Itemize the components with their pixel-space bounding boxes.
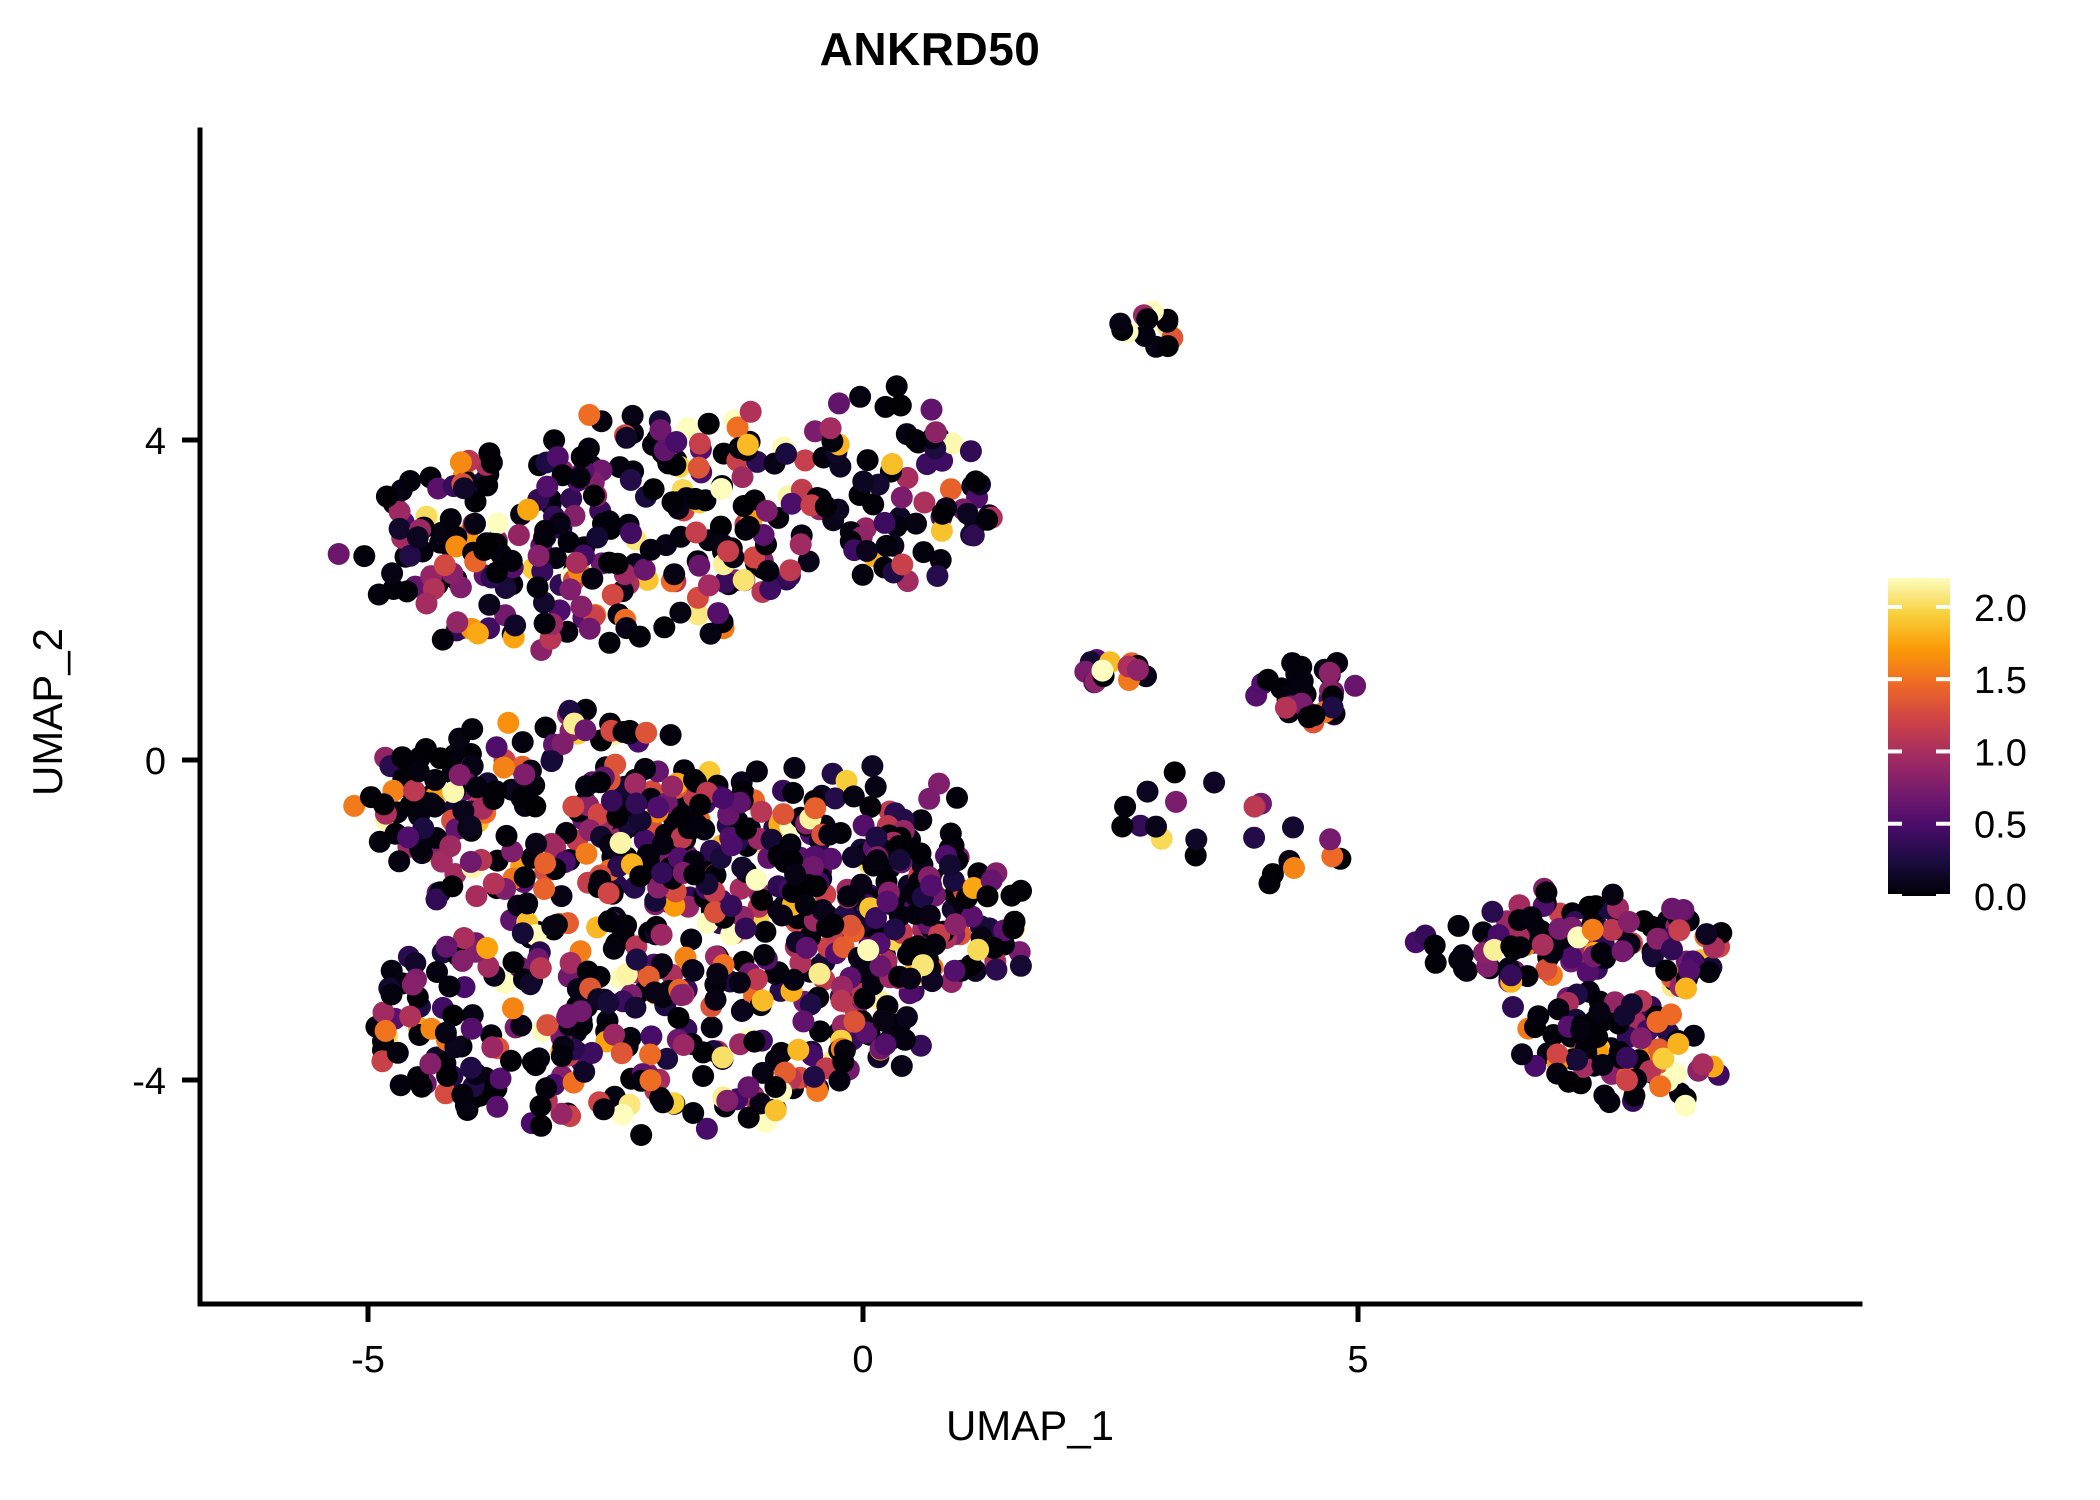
scatter-point (615, 427, 637, 449)
scatter-point (688, 555, 710, 577)
scatter-point (396, 580, 418, 602)
scatter-point (487, 512, 509, 534)
x-axis-ticks: -505 (351, 1304, 1368, 1381)
scatter-point (574, 719, 596, 741)
scatter-point (924, 934, 946, 956)
scatter-point (1257, 669, 1279, 691)
scatter-point (1319, 828, 1341, 850)
scatter-point (905, 513, 927, 535)
scatter-point (486, 1096, 508, 1118)
scatter-point (353, 545, 375, 567)
scatter-point (820, 417, 842, 439)
scatter-point (579, 618, 601, 640)
scatter-point (720, 895, 742, 917)
scatter-point (387, 1042, 409, 1064)
scatter-point (435, 1022, 457, 1044)
scatter-point (944, 960, 966, 982)
scatter-point (683, 863, 705, 885)
scatter-point (651, 862, 673, 884)
scatter-point (921, 399, 943, 421)
scatter-point (829, 1070, 851, 1092)
scatter-point (1592, 1054, 1614, 1076)
scatter-point (651, 924, 673, 946)
scatter-point (772, 803, 794, 825)
scatter-point (1283, 857, 1305, 879)
scatter-point (692, 1065, 714, 1087)
scatter-point (875, 1034, 897, 1056)
scatter-point (607, 553, 629, 575)
scatter-point (536, 1014, 558, 1036)
scatter-point (528, 545, 550, 567)
scatter-point (750, 801, 772, 823)
scatter-point (837, 885, 859, 907)
scatter-point (861, 755, 883, 777)
scatter-point (453, 477, 475, 499)
scatter-point (562, 796, 584, 818)
scatter-point (1520, 906, 1542, 928)
scatter-point (689, 794, 711, 816)
scatter-point (496, 825, 518, 847)
x-tick-label: 5 (1347, 1339, 1368, 1381)
scatter-point (598, 882, 620, 904)
scatter-point (662, 491, 684, 513)
scatter-point (399, 1006, 421, 1028)
scatter-point (737, 434, 759, 456)
x-tick-label: -5 (351, 1339, 385, 1381)
scatter-point (613, 721, 635, 743)
scatter-point (752, 990, 774, 1012)
scatter-point (640, 1069, 662, 1091)
scatter-point (1111, 816, 1133, 838)
x-tick-label: 0 (852, 1339, 873, 1381)
scatter-point (624, 997, 646, 1019)
y-axis-title: UMAP_2 (24, 628, 71, 796)
scatter-point (886, 375, 908, 397)
scatter-point (872, 1010, 894, 1032)
scatter-point (1157, 335, 1179, 357)
scatter-point (706, 963, 728, 985)
scatter-point (884, 918, 906, 940)
scatter-point (464, 513, 486, 535)
scatter-point (483, 873, 505, 895)
scatter-point (735, 918, 757, 940)
scatter-point (822, 914, 844, 936)
scatter-point (843, 785, 865, 807)
scatter-point (597, 992, 619, 1014)
scatter-point (1616, 1069, 1638, 1091)
scatter-point (514, 866, 536, 888)
scatter-point (439, 976, 461, 998)
scatter-point (1275, 697, 1297, 719)
scatter-point (1127, 659, 1149, 681)
scatter-point (1532, 934, 1554, 956)
scatter-point (779, 559, 801, 581)
scatter-point (416, 593, 438, 615)
scatter-point (1452, 944, 1474, 966)
colorbar-legend: 0.00.51.01.52.0 (1888, 578, 2027, 919)
scatter-point (698, 413, 720, 435)
scatter-point (602, 584, 624, 606)
scatter-point (512, 922, 534, 944)
scatter-point (653, 616, 675, 638)
scatter-point (842, 846, 864, 868)
y-axis-ticks: -404 (132, 421, 200, 1103)
scatter-point (467, 623, 489, 645)
scatter-point (1114, 796, 1136, 818)
scatter-point (460, 816, 482, 838)
colorbar-tick-label: 1.5 (1974, 660, 2027, 702)
scatter-chart: -505 -404 UMAP_1 UMAP_2 0.00.51.01.52.0 (0, 0, 2100, 1500)
x-axis-title: UMAP_1 (946, 1402, 1114, 1449)
scatter-point (478, 594, 500, 616)
scatter-point (1674, 1095, 1696, 1117)
scatter-point (944, 913, 966, 935)
scatter-point (581, 568, 603, 590)
scatter-point (478, 442, 500, 464)
scatter-point (818, 824, 840, 846)
scatter-point (429, 747, 451, 769)
colorbar-tick-label: 1.0 (1974, 732, 2027, 774)
scatter-point (390, 1074, 412, 1096)
scatter-point (960, 440, 982, 462)
scatter-point (913, 541, 935, 563)
scatter-point (765, 1099, 787, 1121)
scatter-point (476, 532, 498, 554)
colorbar-tick-label: 0.0 (1974, 877, 2027, 919)
scatter-point (705, 989, 727, 1011)
scatter-point (1621, 993, 1643, 1015)
scatter-point (1203, 772, 1225, 794)
scatter-point (849, 386, 871, 408)
scatter-point (783, 757, 805, 779)
scatter-point (525, 833, 547, 855)
scatter-point (486, 736, 508, 758)
scatter-point (894, 1029, 916, 1051)
scatter-point (688, 457, 710, 479)
scatter-point (375, 1020, 397, 1042)
scatter-point (1282, 816, 1304, 838)
scatter-point (824, 787, 846, 809)
scatter-point (1649, 1075, 1671, 1097)
scatter-point (624, 773, 646, 795)
scatter-point (731, 1000, 753, 1022)
scatter-point (796, 937, 818, 959)
scatter-point (500, 1050, 522, 1072)
scatter-point (792, 1010, 814, 1032)
scatter-point (1547, 1043, 1569, 1065)
scatter-point (673, 1034, 695, 1056)
scatter-point (569, 467, 591, 489)
scatter-point (783, 969, 805, 991)
scatter-point (535, 1077, 557, 1099)
scatter-point (781, 493, 803, 515)
scatter-point (682, 1102, 704, 1124)
scatter-point (419, 1053, 441, 1075)
scatter-point (1661, 898, 1683, 920)
scatter-point (439, 835, 461, 857)
scatter-point (865, 776, 887, 798)
scatter-point (643, 478, 665, 500)
scatter-point (1675, 978, 1697, 1000)
scatter-point (746, 869, 768, 891)
scatter-point (559, 578, 581, 600)
scatter-point (551, 1045, 573, 1067)
scatter-point (698, 574, 720, 596)
scatter-point (782, 782, 804, 804)
scatter-point (381, 984, 403, 1006)
y-tick-label: 0 (145, 741, 166, 783)
scatter-point (1502, 996, 1524, 1018)
scatter-point (1001, 885, 1023, 907)
scatter-point (1002, 917, 1024, 939)
scatter-point (524, 795, 546, 817)
scatter-point (716, 1090, 738, 1112)
scatter-point (647, 796, 669, 818)
scatter-point (700, 623, 722, 645)
scatter-point (746, 760, 768, 782)
scatter-point (328, 543, 350, 565)
scatter-point (373, 793, 395, 815)
scatter-point (815, 496, 837, 518)
scatter-point (541, 750, 563, 772)
scatter-point (1481, 901, 1503, 923)
scatter-point (1558, 1071, 1580, 1093)
scatter-point (376, 486, 398, 508)
colorbar-tick-label: 0.5 (1974, 805, 2027, 847)
scatter-point (803, 1066, 825, 1088)
scatter-point (890, 395, 912, 417)
scatter-point (794, 449, 816, 471)
scatter-point (852, 471, 874, 493)
scatter-point (629, 626, 651, 648)
scatter-point (601, 790, 623, 812)
scatter-point (522, 1051, 544, 1073)
scatter-point (889, 849, 911, 871)
scatter-point (460, 851, 482, 873)
scatter-point (603, 938, 625, 960)
scatter-point (784, 863, 806, 885)
scatter-point (589, 771, 611, 793)
scatter-point (1527, 1005, 1549, 1027)
scatter-point (685, 521, 707, 543)
scatter-point (738, 516, 760, 538)
scatter-point (756, 500, 778, 522)
scatter-point (1010, 955, 1032, 977)
scatter-point (476, 937, 498, 959)
scatter-point (1591, 942, 1613, 964)
scatter-point (670, 984, 692, 1006)
scatter-point (1319, 662, 1341, 684)
scatter-point (502, 997, 524, 1019)
scatter-point (407, 526, 429, 548)
scatter-point (1185, 829, 1207, 851)
scatter-point (877, 891, 899, 913)
scatter-point (671, 805, 693, 827)
scatter-point (1344, 675, 1366, 697)
scatter-point (977, 885, 999, 907)
scatter-point (573, 1061, 595, 1083)
scatter-point (1566, 1049, 1588, 1071)
scatter-point (967, 939, 989, 961)
scatter-point (612, 1104, 634, 1126)
scatter-point (790, 533, 812, 555)
scatter-point (740, 401, 762, 423)
scatter-point (397, 826, 419, 848)
scatter-point (1589, 1001, 1611, 1023)
scatter-point (764, 1076, 786, 1098)
scatter-point (533, 878, 555, 900)
scatter-point (910, 842, 932, 864)
scatter-point (985, 959, 1007, 981)
scatter-point (626, 949, 648, 971)
scatter-point (446, 611, 468, 633)
scatter-point (575, 843, 597, 865)
scatter-point (440, 508, 462, 530)
scatter-point (652, 1091, 674, 1113)
scatter-point (681, 959, 703, 981)
scatter-point (918, 788, 940, 810)
scatter-point (832, 1051, 854, 1073)
scatter-point (891, 1055, 913, 1077)
scatter-point (434, 554, 456, 576)
scatter-point (795, 894, 817, 916)
scatter-point (1618, 911, 1640, 933)
scatter-point (1698, 961, 1720, 983)
scatter-point (1500, 964, 1522, 986)
scatter-point (733, 569, 755, 591)
scatter-point (1667, 1033, 1689, 1055)
scatter-point (857, 449, 879, 471)
scatter-point (620, 469, 642, 491)
scatter-point (932, 503, 954, 525)
scatter-point (1668, 919, 1690, 941)
scatter-point (432, 629, 454, 651)
scatter-point (516, 892, 538, 914)
scatter-point (1165, 791, 1187, 813)
scatter-point (571, 446, 593, 468)
scatter-point (534, 612, 556, 634)
scatter-point (710, 478, 732, 500)
scatter-point (732, 466, 754, 488)
scatter-point (899, 968, 921, 990)
scatter-point (629, 865, 651, 887)
y-tick-label: -4 (132, 1061, 166, 1103)
scatter-point (536, 476, 558, 498)
scatter-point (635, 722, 657, 744)
scatter-point (926, 565, 948, 587)
scatter-point (508, 524, 530, 546)
scatter-points-layer (328, 300, 1733, 1146)
scatter-point (668, 1007, 690, 1029)
scatter-point (771, 905, 793, 927)
scatter-point (586, 527, 608, 549)
scatter-point (976, 509, 998, 531)
feature-plot-root: ANKRD50 -505 -404 (0, 0, 2100, 1500)
scatter-point (610, 832, 632, 854)
scatter-point (896, 1006, 918, 1028)
scatter-point (733, 495, 755, 517)
scatter-point (738, 1076, 760, 1098)
scatter-point (625, 793, 647, 815)
scatter-point (843, 1011, 865, 1033)
scatter-point (578, 404, 600, 426)
scatter-point (512, 731, 534, 753)
scatter-point (828, 392, 850, 414)
scatter-point (865, 827, 887, 849)
scatter-point (661, 776, 683, 798)
scatter-point (965, 470, 987, 492)
y-tick-label: 4 (145, 421, 166, 463)
scatter-point (1092, 660, 1114, 682)
scatter-point (1661, 938, 1683, 960)
axis-lines (200, 130, 1860, 1304)
scatter-point (399, 470, 421, 492)
scatter-point (1692, 1053, 1714, 1075)
scatter-point (504, 614, 526, 636)
scatter-point (712, 787, 734, 809)
scatter-point (436, 936, 458, 958)
scatter-point (640, 539, 662, 561)
scatter-point (754, 921, 776, 943)
scatter-point (1696, 923, 1718, 945)
colorbar-gradient (1888, 578, 1950, 896)
scatter-point (891, 554, 913, 576)
scatter-point (620, 522, 642, 544)
scatter-point (1136, 308, 1158, 330)
scatter-point (611, 1042, 633, 1064)
scatter-point (721, 834, 743, 856)
scatter-point (1570, 1019, 1592, 1041)
scatter-point (1244, 796, 1266, 818)
scatter-point (1511, 1043, 1533, 1065)
scatter-point (460, 1057, 482, 1079)
scatter-point (874, 512, 896, 534)
scatter-point (541, 915, 563, 937)
scatter-point (857, 939, 879, 961)
scatter-point (735, 818, 757, 840)
scatter-point (450, 451, 472, 473)
scatter-point (530, 1115, 552, 1137)
scatter-point (461, 1018, 483, 1040)
scatter-point (939, 854, 961, 876)
scatter-point (1602, 884, 1624, 906)
scatter-point (527, 576, 549, 598)
scatter-point (1259, 872, 1281, 894)
scatter-point (534, 520, 556, 542)
scatter-point (449, 764, 471, 786)
scatter-point (388, 850, 410, 872)
scatter-point (919, 905, 941, 927)
scatter-point (630, 1124, 652, 1146)
scatter-point (920, 875, 942, 897)
scatter-point (530, 957, 552, 979)
scatter-point (717, 540, 739, 562)
scatter-point (403, 780, 425, 802)
scatter-point (804, 797, 826, 819)
scatter-point (1598, 1091, 1620, 1113)
scatter-point (866, 849, 888, 871)
scatter-point (652, 833, 674, 855)
scatter-point (891, 487, 913, 509)
scatter-point (644, 981, 666, 1003)
scatter-point (712, 1046, 734, 1068)
scatter-point (583, 485, 605, 507)
scatter-point (881, 453, 903, 475)
scatter-point (1578, 896, 1600, 918)
scatter-point (862, 493, 884, 515)
scatter-point (946, 787, 968, 809)
scatter-point (503, 951, 525, 973)
